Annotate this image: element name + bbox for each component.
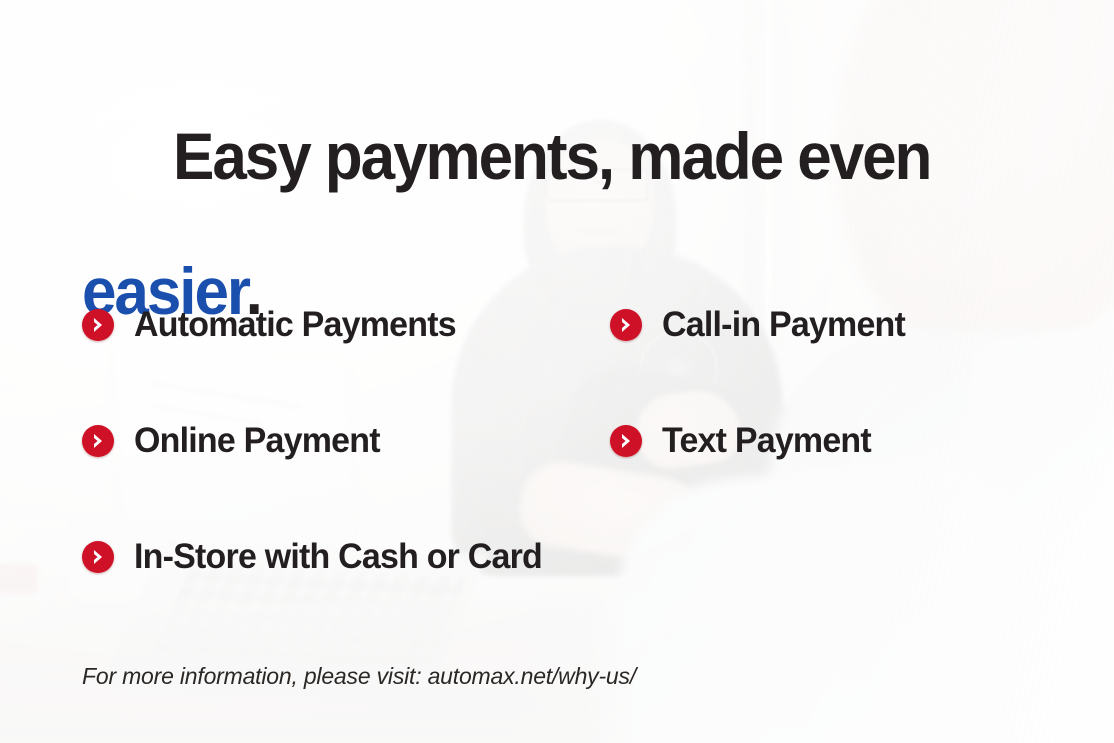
chevron-right-circle-icon <box>82 541 114 573</box>
list-item-label: In-Store with Cash or Card <box>134 537 542 577</box>
list-item-label: Automatic Payments <box>134 305 456 345</box>
promo-poster: Easy payments, made even easier. Automat… <box>0 0 1114 743</box>
list-item-online-payment[interactable]: Online Payment <box>82 421 387 461</box>
benefits-list: Automatic Payments Call-in Payment <box>82 305 1042 537</box>
list-item-automatic-payments[interactable]: Automatic Payments <box>82 305 466 345</box>
chevron-right-circle-icon <box>82 309 114 341</box>
chevron-right-circle-icon <box>82 425 114 457</box>
list-item-call-in-payment[interactable]: Call-in Payment <box>610 305 913 345</box>
list-item-label: Text Payment <box>662 421 871 461</box>
list-item-label: Online Payment <box>134 421 380 461</box>
list-item-in-store-payment[interactable]: In-Store with Cash or Card <box>82 537 555 577</box>
chevron-right-circle-icon <box>610 309 642 341</box>
poster-content: Easy payments, made even easier. Automat… <box>0 0 1114 743</box>
chevron-right-circle-icon <box>610 425 642 457</box>
benefits-row: Automatic Payments Call-in Payment <box>82 305 1042 421</box>
benefits-row: Online Payment Text Payment <box>82 421 1042 537</box>
footer-note: For more information, please visit: auto… <box>82 663 636 690</box>
headline-line-1: Easy payments, made even <box>173 119 930 193</box>
list-item-label: Call-in Payment <box>662 305 905 345</box>
list-item-text-payment[interactable]: Text Payment <box>610 421 877 461</box>
